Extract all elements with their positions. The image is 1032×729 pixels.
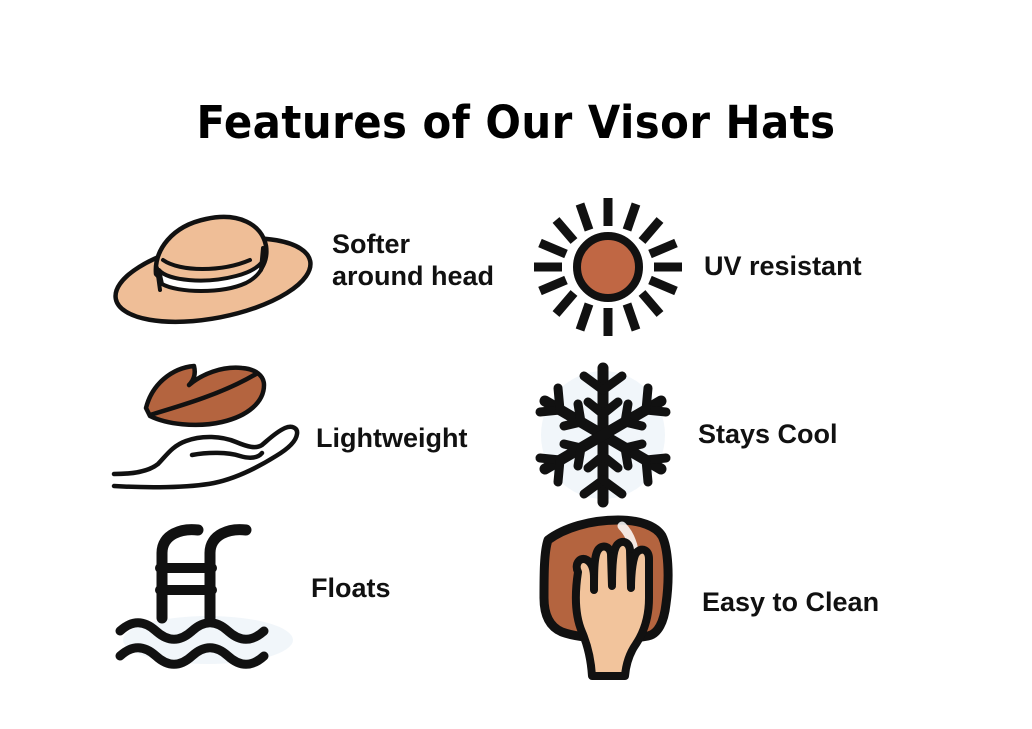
feature-item-uv-resistant: UV resistant: [528, 192, 862, 342]
sun-icon: [528, 192, 688, 342]
feature-label: UV resistant: [704, 251, 862, 283]
feature-grid: Softer around head: [0, 180, 1032, 710]
feature-label: Easy to Clean: [702, 587, 879, 619]
feature-item-lightweight: Lightweight: [110, 352, 467, 492]
feature-item-softer-around-head: Softer around head: [110, 198, 494, 323]
feature-label: Floats: [311, 573, 391, 605]
feature-item-easy-to-clean: Easy to Clean: [528, 512, 879, 680]
pool-ladder-water-icon: [110, 518, 295, 666]
page-title: Features of Our Visor Hats: [36, 96, 996, 149]
feature-label: Stays Cool: [698, 419, 838, 451]
feature-label: Softer around head: [332, 229, 494, 293]
leaf-on-hand-icon: [110, 352, 310, 492]
feature-label: Lightweight: [316, 423, 467, 455]
infographic-poster: Features of Our Visor Hats: [0, 0, 1032, 729]
feature-item-floats: Floats: [110, 518, 391, 666]
hand-wiping-cloth-icon: [528, 512, 688, 680]
feature-item-stays-cool: Stays Cool: [528, 360, 838, 510]
snowflake-icon: [528, 360, 678, 510]
sun-hat-icon: [110, 198, 320, 323]
